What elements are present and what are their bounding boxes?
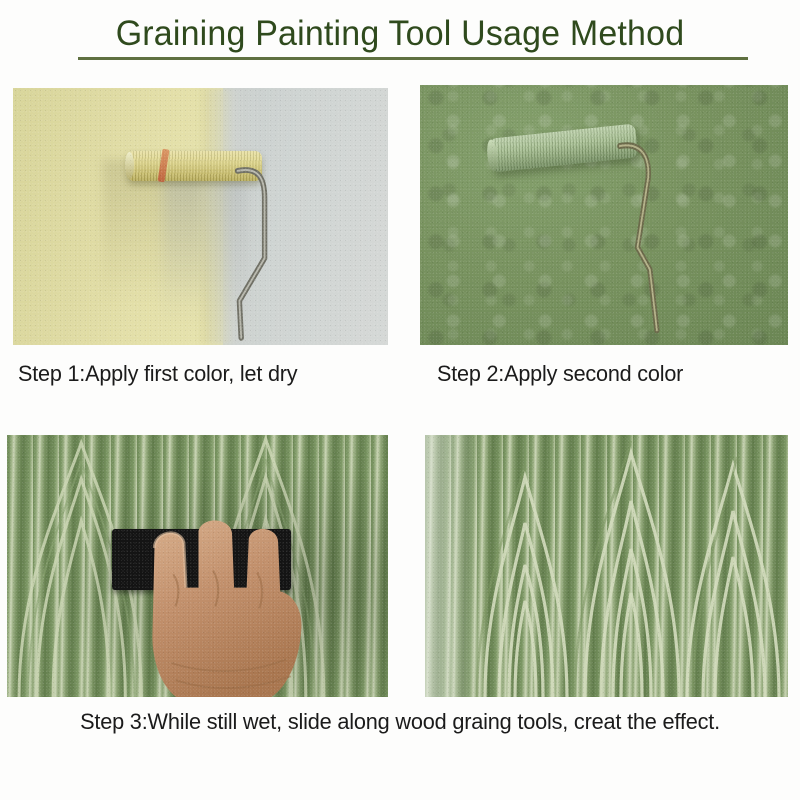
wet-paint-streak-right [163, 165, 246, 324]
step-2-caption: Step 2:Apply second color [437, 360, 683, 388]
roller-end-cap [125, 152, 134, 179]
step-2-photo [420, 85, 788, 345]
step-4-scene [425, 435, 788, 697]
step-1-caption: Step 1:Apply first color, let dry [18, 360, 297, 388]
infographic-page: Graining Painting Tool Usage Method [0, 0, 800, 800]
page-title-wrap: Graining Painting Tool Usage Method [0, 14, 800, 54]
wall-mottle-texture [420, 85, 788, 345]
step-1-scene [13, 88, 388, 345]
roller-wire-handle [611, 142, 699, 334]
step-3-scene [7, 435, 388, 697]
step-3-photo [7, 435, 388, 697]
step-4-result-photo [425, 435, 788, 697]
title-underline-rule [78, 57, 748, 60]
hand-holding-tool [144, 514, 312, 697]
step-3-caption: Step 3:While still wet, slide along wood… [14, 708, 786, 736]
step-1-photo [13, 88, 388, 345]
washed-highlight-band [425, 435, 483, 697]
page-title: Graining Painting Tool Usage Method [12, 14, 788, 54]
step-2-scene [420, 85, 788, 345]
roller-red-stripe [157, 149, 169, 183]
roller-wire-handle [234, 165, 324, 340]
